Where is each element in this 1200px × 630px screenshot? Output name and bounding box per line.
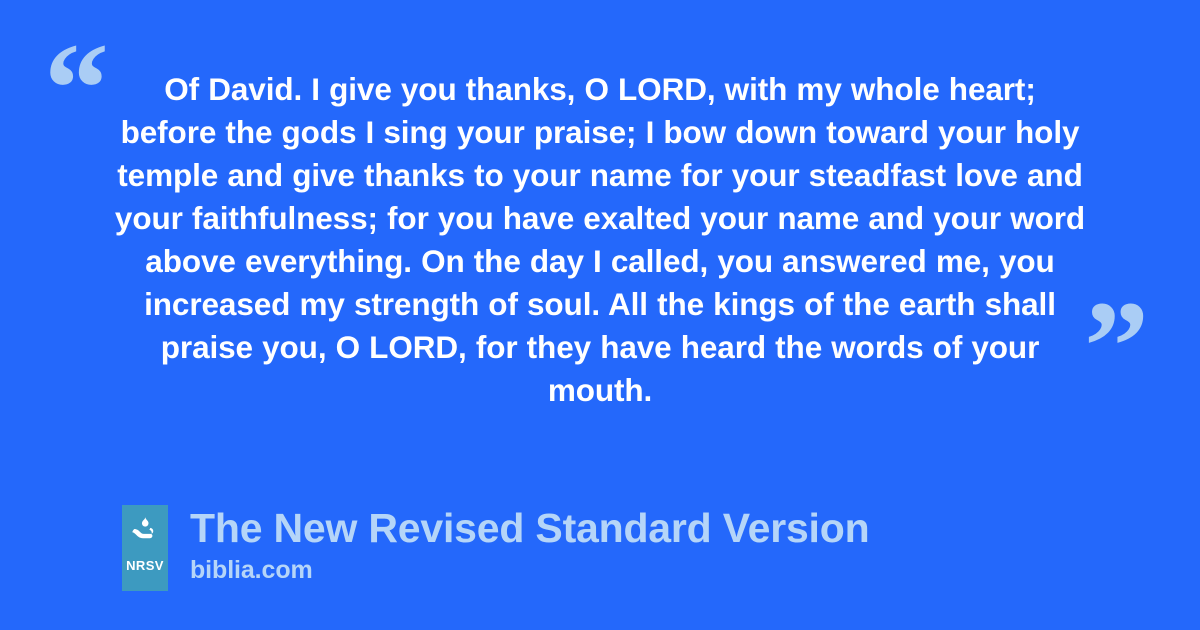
- verse-text: Of David. I give you thanks, O LORD, wit…: [112, 68, 1088, 412]
- version-abbreviation: NRSV: [126, 559, 164, 572]
- site-url[interactable]: biblia.com: [190, 555, 869, 585]
- verse-card: “ Of David. I give you thanks, O LORD, w…: [0, 0, 1200, 630]
- branding-footer: NRSV The New Revised Standard Version bi…: [122, 505, 869, 591]
- translation-title: The New Revised Standard Version: [190, 503, 869, 553]
- nrsv-version-badge: NRSV: [122, 505, 168, 591]
- opening-quote-icon: “: [44, 24, 109, 154]
- brand-text-block: The New Revised Standard Version biblia.…: [190, 503, 869, 585]
- quote-region: “ Of David. I give you thanks, O LORD, w…: [0, 0, 1200, 470]
- flame-in-hand-icon: [130, 514, 160, 544]
- closing-quote-icon: ”: [1084, 282, 1149, 412]
